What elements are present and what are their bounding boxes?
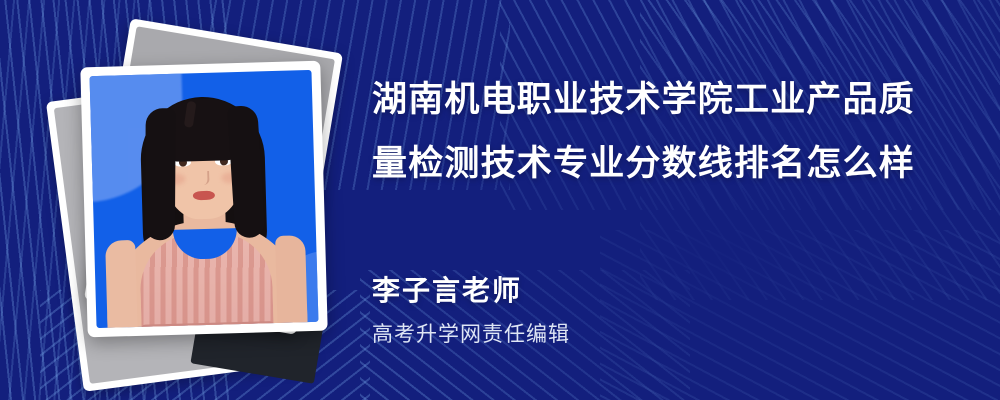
portrait-figure bbox=[90, 70, 319, 328]
portrait-arm-left bbox=[105, 240, 138, 328]
article-header-banner: 湖南机电职业技术学院工业产品质 量检测技术专业分数线排名怎么样 李子言老师 高考… bbox=[0, 0, 1000, 400]
photo-card-stack bbox=[46, 34, 356, 364]
portrait-mouth bbox=[193, 191, 215, 201]
portrait-arm-right bbox=[275, 235, 308, 328]
portrait-photo bbox=[90, 70, 319, 328]
portrait-hair-left bbox=[145, 108, 176, 240]
author-role: 高考升学网责任编辑 bbox=[372, 324, 570, 345]
page-title-line-1: 湖南机电职业技术学院工业产品质 bbox=[372, 82, 915, 117]
photo-card-front bbox=[80, 61, 327, 338]
page-title-line-2: 量检测技术专业分数线排名怎么样 bbox=[372, 146, 915, 181]
banner-text-block: 湖南机电职业技术学院工业产品质 量检测技术专业分数线排名怎么样 李子言老师 高考… bbox=[372, 0, 972, 400]
author-name: 李子言老师 bbox=[372, 277, 522, 305]
